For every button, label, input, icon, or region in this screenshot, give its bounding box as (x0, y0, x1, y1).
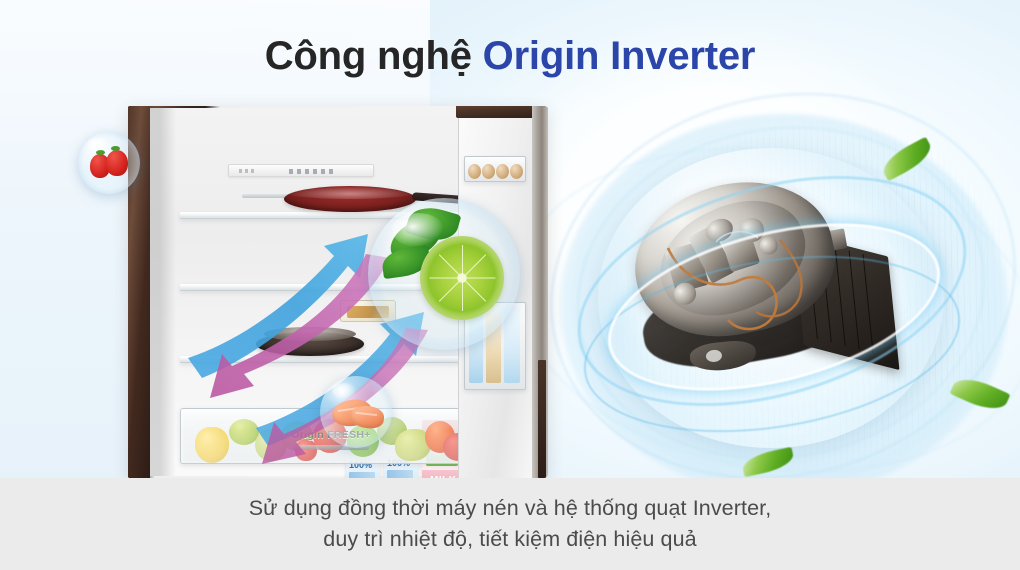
door-edge-handle[interactable] (538, 360, 546, 478)
lime-segment (462, 278, 486, 302)
control-panel-display (289, 169, 337, 174)
dark-pot (256, 332, 364, 356)
lime-segment (462, 245, 463, 278)
strawberry-leaf (96, 150, 105, 155)
lime-segment (439, 254, 463, 278)
egg (468, 164, 481, 179)
page-title: Công nghệ Origin Inverter (0, 34, 1020, 79)
promo-banner: Công nghệ Origin Inverter (0, 0, 1020, 570)
lime-segment (430, 278, 463, 279)
strawberry-leaf (111, 146, 120, 151)
lime-mint-bubble (368, 198, 520, 350)
control-panel-indicator (239, 169, 257, 173)
salmon-fillet (349, 404, 385, 429)
strawberry-bubble (78, 132, 140, 194)
caption-line-2: duy trì nhiệt độ, tiết kiệm điện hiệu qu… (323, 524, 696, 555)
red-pan-rim (284, 186, 416, 199)
control-panel (228, 164, 374, 177)
salmon-bubble (320, 376, 392, 448)
egg (510, 164, 523, 179)
lime-segment (462, 254, 486, 278)
strawberry (106, 150, 128, 176)
lime-slice (420, 236, 504, 320)
lime-segment (463, 278, 496, 279)
compressor-assembly (588, 140, 980, 470)
shelf-lower (180, 356, 480, 363)
salmon-marbling (355, 412, 377, 416)
bottle (504, 307, 520, 383)
page-title-accent: Origin Inverter (483, 34, 756, 78)
lime-segment (439, 278, 463, 302)
egg (496, 164, 509, 179)
egg (482, 164, 495, 179)
caption-band: Sử dụng đồng thời máy nén và hệ thống qu… (0, 478, 1020, 570)
egg-tray (464, 156, 526, 182)
dark-pot-lid (264, 327, 356, 341)
page-title-plain: Công nghệ (265, 34, 483, 78)
caption-line-1: Sử dụng đồng thời máy nén và hệ thống qu… (249, 493, 772, 524)
red-pan (284, 186, 416, 212)
carton-stripe (387, 470, 413, 478)
lime-segment (462, 278, 463, 311)
